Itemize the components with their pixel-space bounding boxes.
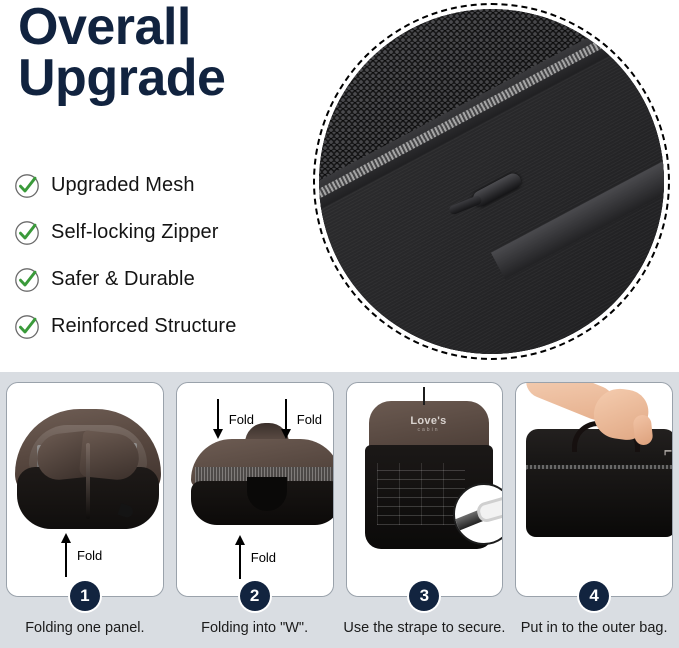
step-card: Love's cabin 3 <box>346 382 504 597</box>
feature-item: Upgraded Mesh <box>14 162 314 209</box>
step-image: Fold Fold Fold <box>177 383 333 596</box>
step-number-badge: 3 <box>409 581 439 611</box>
fold-label: Fold <box>251 550 276 565</box>
step-card: Fold 1 <box>6 382 164 597</box>
feature-label: Self-locking Zipper <box>51 221 219 244</box>
step-image: L <box>516 383 672 596</box>
step-caption: Put in to the outer bag. <box>509 614 679 642</box>
strap-webbing <box>377 463 465 525</box>
check-circle-icon <box>14 173 40 199</box>
step-caption: Folding one panel. <box>0 614 170 642</box>
step-number-badge: 2 <box>240 581 270 611</box>
feature-label: Safer & Durable <box>51 268 195 291</box>
fold-label: Fold <box>229 412 254 427</box>
arrow-down-icon <box>281 399 291 439</box>
step-captions: Folding one panel. Folding into "W". Use… <box>0 614 679 642</box>
magnifier-pointer <box>423 387 425 405</box>
carrier-in-outer-bag-photo: L <box>526 407 672 539</box>
infographic-page: Overall Upgrade Upgraded Mesh <box>0 0 679 648</box>
step-card: L 4 <box>515 382 673 597</box>
photo-inner <box>319 9 664 354</box>
feature-list: Upgraded Mesh Self-locking Zipper <box>14 162 314 350</box>
carrier-strapped-photo: Love's cabin <box>365 401 493 551</box>
hero-section: Overall Upgrade Upgraded Mesh <box>0 0 679 372</box>
step-image: Fold <box>7 383 163 596</box>
fold-label: Fold <box>297 412 322 427</box>
step-caption: Folding into "W". <box>170 614 340 642</box>
mesh-zipper-closeup-photo <box>313 3 670 360</box>
step-number-badge: 4 <box>579 581 609 611</box>
fold-annotation: Fold <box>281 399 322 439</box>
step-caption: Use the strape to secure. <box>340 614 510 642</box>
step-cards: Fold 1 Fold <box>0 382 679 597</box>
feature-item: Reinforced Structure <box>14 303 314 350</box>
step-card: Fold Fold Fold 2 <box>176 382 334 597</box>
folding-steps-section: Fold 1 Fold <box>0 372 679 648</box>
headline-line-1: Overall <box>18 0 191 56</box>
feature-item: Safer & Durable <box>14 256 314 303</box>
arrow-up-icon <box>235 535 245 579</box>
carrier-folding-one-panel-photo <box>15 409 161 527</box>
check-circle-icon <box>14 314 40 340</box>
check-circle-icon <box>14 220 40 246</box>
step-number-badge: 1 <box>70 581 100 611</box>
fold-label: Fold <box>77 548 102 563</box>
fold-annotation: Fold <box>235 535 276 579</box>
feature-item: Self-locking Zipper <box>14 209 314 256</box>
hand-illustration <box>548 383 654 453</box>
check-circle-icon <box>14 267 40 293</box>
thumb <box>633 414 654 446</box>
page-title: Overall Upgrade <box>18 2 318 104</box>
brand-logo: Love's cabin <box>369 415 489 433</box>
fold-annotation: Fold <box>61 533 102 577</box>
fold-annotation: Fold <box>213 399 254 439</box>
arrow-up-icon <box>61 533 71 577</box>
brand-subtitle: cabin <box>369 427 489 433</box>
arrow-down-icon <box>213 399 223 439</box>
feature-label: Reinforced Structure <box>51 315 236 338</box>
carrier-center-split <box>86 443 90 519</box>
step-image: Love's cabin <box>347 383 503 596</box>
brand-logo: L <box>662 449 672 455</box>
feature-label: Upgraded Mesh <box>51 174 195 197</box>
outer-bag-body <box>526 469 672 537</box>
brand-name: Love's <box>410 415 446 427</box>
headline-line-2: Upgrade <box>18 53 318 104</box>
